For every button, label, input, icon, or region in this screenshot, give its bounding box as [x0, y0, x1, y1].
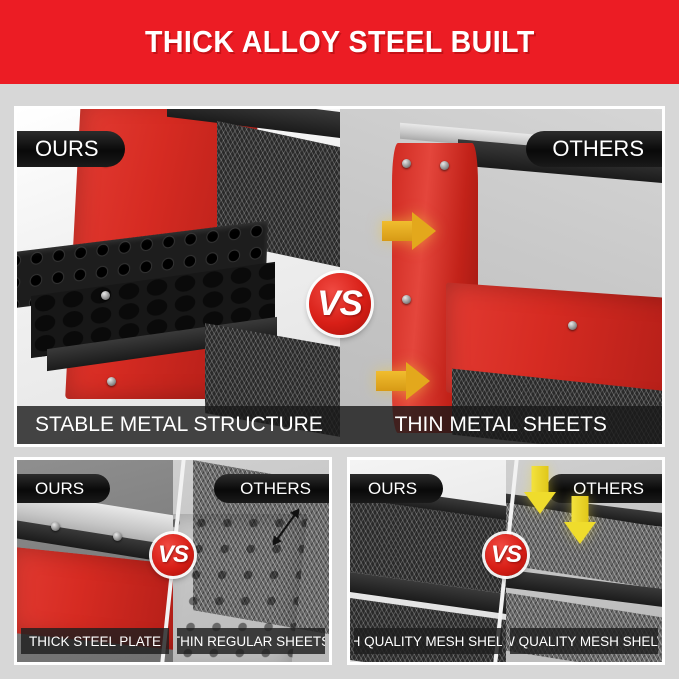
vs-badge-text: VS [491, 541, 521, 569]
vs-badge-text: VS [317, 284, 362, 324]
caption-ours-br-text: HIGH QUALITY MESH SHELVES [354, 634, 502, 649]
sag-arrow-icon [564, 496, 596, 544]
label-ours-br: OURS [350, 474, 443, 503]
panel-br-ours: OURS HIGH QUALITY MESH SHELVES [350, 460, 506, 662]
vs-badge-bottom-right: VS [485, 534, 527, 576]
label-ours-text: OURS [368, 479, 417, 499]
bolt-icon [113, 532, 122, 541]
caption-ours-bl-text: THICK STEEL PLATE [29, 634, 161, 649]
comparison-panel-bottom-right: OURS HIGH QUALITY MESH SHELVES OTHERS [347, 457, 665, 665]
caption-ours-bl: THICK STEEL PLATE [21, 628, 169, 654]
label-ours-text: OURS [35, 479, 84, 499]
panel-top-others: OTHERS THIN METAL SHEETS [340, 109, 663, 444]
label-others-bl: OTHERS [214, 474, 329, 503]
infographic-page: THICK ALLOY STEEL BUILT [0, 0, 679, 679]
label-ours-top: OURS [17, 131, 125, 167]
caption-others-top-text: THIN METAL SHEETS [395, 413, 607, 437]
header-banner: THICK ALLOY STEEL BUILT [0, 0, 679, 84]
vs-badge-top: VS [309, 273, 371, 335]
caption-ours-top-text: STABLE METAL STRUCTURE [35, 413, 323, 437]
caption-others-bl: THIN REGULAR SHEETS [177, 628, 325, 654]
caption-others-br-text: LOW QUALITY MESH SHELVES [510, 634, 658, 649]
page-title: THICK ALLOY STEEL BUILT [145, 24, 535, 60]
sag-arrow-icon [524, 466, 556, 514]
panel-br-others: OTHERS LOW QUALITY MESH SHELVES [506, 460, 662, 662]
bolt-icon [402, 159, 411, 168]
panel-bl-ours: OURS THICK STEEL PLATE [17, 460, 173, 662]
comparison-panel-top: OURS STABLE METAL STRUCTURE [14, 106, 665, 447]
caption-ours-br: HIGH QUALITY MESH SHELVES [354, 628, 502, 654]
comparison-panel-bottom-left: OURS THICK STEEL PLATE OTHERS THIN REGUL… [14, 457, 332, 665]
label-others-text: OTHERS [552, 136, 644, 162]
panel-top-ours: OURS STABLE METAL STRUCTURE [17, 109, 340, 444]
label-ours-text: OURS [35, 136, 99, 162]
bolt-icon [440, 161, 449, 170]
caption-others-bl-text: THIN REGULAR SHEETS [177, 634, 325, 649]
panel-bl-others: OTHERS THIN REGULAR SHEETS [173, 460, 329, 662]
bolt-icon [51, 522, 60, 531]
vs-badge-text: VS [158, 541, 188, 569]
vs-badge-bottom-left: VS [152, 534, 194, 576]
caption-ours-top: STABLE METAL STRUCTURE [17, 406, 340, 444]
caption-others-top: THIN METAL SHEETS [340, 406, 663, 444]
label-others-top: OTHERS [526, 131, 662, 167]
label-others-text: OTHERS [240, 479, 311, 499]
caption-others-br: LOW QUALITY MESH SHELVES [510, 628, 658, 654]
bolt-icon [101, 291, 110, 300]
bolt-icon [107, 377, 116, 386]
label-ours-bl: OURS [17, 474, 110, 503]
bolt-icon [568, 321, 577, 330]
bolt-icon [402, 295, 411, 304]
